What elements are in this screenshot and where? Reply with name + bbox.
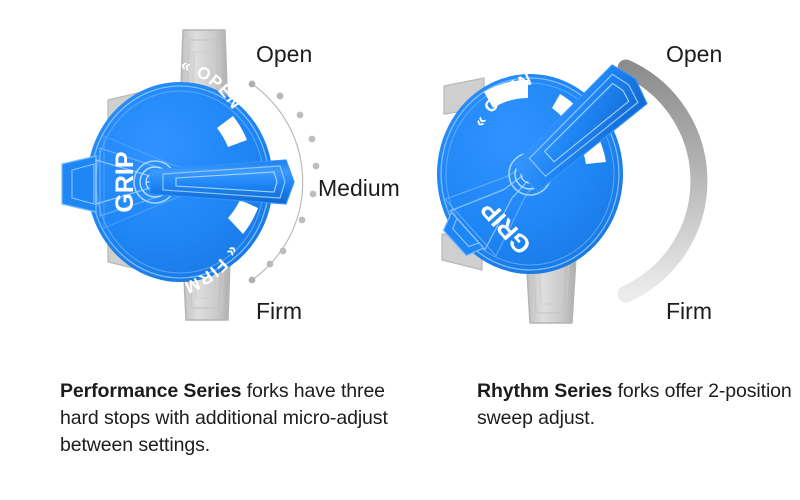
label-medium: Medium [318,175,400,201]
knob-grip-label: GRIP [111,151,139,212]
diagram-rhythm-series: GRIP « OPEN « FIRM Op [420,8,800,358]
panel-performance-series: GRIP « OPEN « FIRM Op [0,0,420,500]
caption-rhythm-bold: Rhythm Series [477,380,612,402]
label-open: Open [256,41,312,67]
caption-performance-bold: Performance Series [60,380,241,402]
label-open: Open [666,41,722,67]
label-firm: Firm [666,298,712,324]
caption-rhythm-series: Rhythm Series forks offer 2-position swe… [477,378,797,432]
panel-rhythm-series: GRIP « OPEN « FIRM Op [420,0,800,500]
knob-firm-mark: « FIRM [620,123,648,193]
caption-performance-series: Performance Series forks have three hard… [60,378,410,459]
fork-damper-comparison-figure: GRIP « OPEN « FIRM Op [0,0,800,500]
label-firm: Firm [256,298,302,324]
diagram-performance-series: GRIP « OPEN « FIRM Op [0,8,420,358]
